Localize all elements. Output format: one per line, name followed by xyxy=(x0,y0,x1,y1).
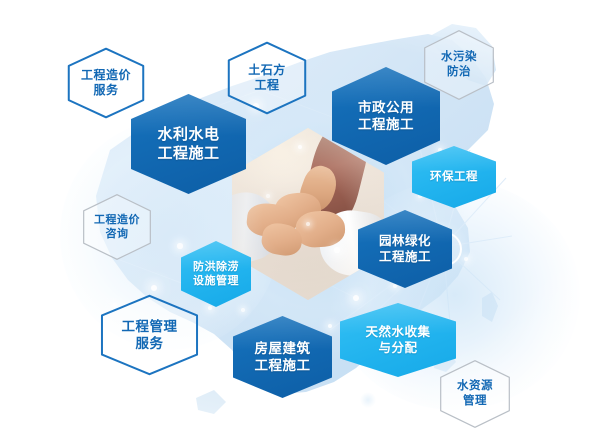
hexagon-earthwork-engineering[interactable]: 土石方 工程 xyxy=(228,42,306,114)
hexagon-label: 市政公用 工程施工 xyxy=(358,99,414,134)
hexagon-label: 园林绿化 工程施工 xyxy=(379,233,431,265)
hexagon-label: 环保工程 xyxy=(430,170,478,185)
hexagon-water-pollution-control[interactable]: 水污染 防治 xyxy=(424,30,494,100)
hexagon-label: 防洪除涝 设施管理 xyxy=(193,260,239,288)
hexagon-label: 水利水电 工程施工 xyxy=(157,125,219,163)
hexagon-label: 土石方 工程 xyxy=(248,63,286,94)
hexagon-label: 工程管理 服务 xyxy=(122,318,178,353)
hexagon-engineering-cost-consulting[interactable]: 工程造价 咨询 xyxy=(83,194,151,260)
hexagon-engineering-management-service[interactable]: 工程管理 服务 xyxy=(101,295,198,375)
hexagon-label: 水资源 管理 xyxy=(457,379,493,408)
infographic-canvas: 工程造价 服务土石方 工程水污染 防治水利水电 工程施工市政公用 工程施工环保工… xyxy=(0,0,600,439)
hexagon-label: 工程造价 服务 xyxy=(81,68,131,99)
hexagon-label: 房屋建筑 工程施工 xyxy=(255,340,311,375)
hexagon-water-resources-management[interactable]: 水资源 管理 xyxy=(440,360,510,428)
hexagon-label: 水污染 防治 xyxy=(441,50,477,79)
hexagon-engineering-cost-service[interactable]: 工程造价 服务 xyxy=(68,48,144,118)
hexagon-label: 工程造价 咨询 xyxy=(94,213,140,241)
hexagon-label: 天然水收集 与分配 xyxy=(365,324,430,356)
